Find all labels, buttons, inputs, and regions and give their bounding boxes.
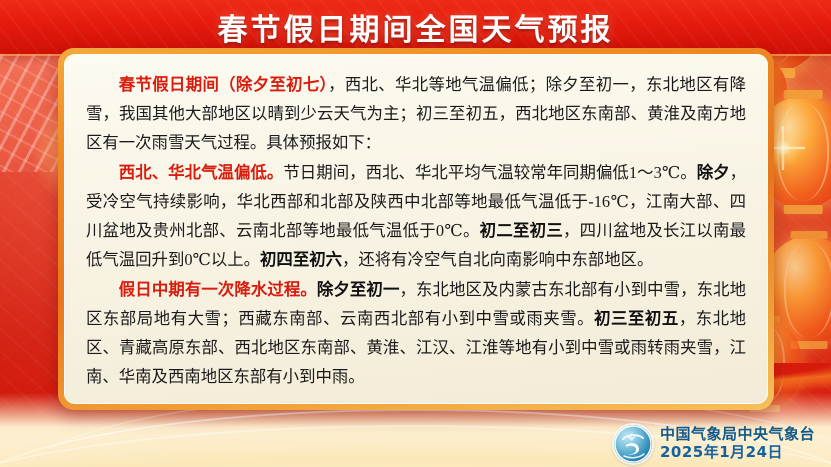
forecast-paragraph-precipitation: 假日中期有一次降水过程。除夕至初一，东北地区及内蒙古东北部有小到中雪，东北地区东…: [86, 275, 746, 391]
text-run-highlight: 春节假日期间（除夕至初七）: [119, 75, 328, 94]
text-run-bold: 初二至初三: [480, 221, 563, 240]
text-run-bold: 除夕至初一: [317, 280, 400, 299]
title-bar: 春节假日期间全国天气预报: [0, 0, 831, 54]
text-run-normal: 节日期间，西北、华北平均气温较常年同期偏低1～3℃。: [283, 163, 696, 182]
credit-text-block: 中国气象局中央气象台 2025年1月24日: [660, 426, 815, 461]
content-card-inner: 春节假日期间（除夕至初七），西北、华北等地气温偏低；除夕至初一，东北地区有降雪，…: [64, 54, 768, 404]
text-run-highlight: 西北、华北气温偏低。: [119, 163, 284, 182]
cma-logo-icon: [614, 425, 652, 463]
page-title: 春节假日期间全国天气预报: [218, 5, 614, 49]
text-run-highlight: 假日中期有一次降水过程。: [119, 280, 317, 299]
forecast-body-text: 春节假日期间（除夕至初七），西北、华北等地气温偏低；除夕至初一，东北地区有降雪，…: [86, 70, 746, 391]
text-run-normal: ，还将有冷空气自北向南影响中东部地区。: [342, 250, 653, 269]
text-run-bold: 除夕: [697, 163, 730, 182]
weather-forecast-poster: 春节假日期间全国天气预报 春节假日期间（除夕至初七），西北、华北等地气温偏低；除…: [0, 0, 831, 467]
credit-organization: 中国气象局中央气象台: [660, 426, 815, 444]
source-credit: 中国气象局中央气象台 2025年1月24日: [614, 425, 815, 463]
forecast-paragraph-temperature: 西北、华北气温偏低。节日期间，西北、华北平均气温较常年同期偏低1～3℃。除夕，受…: [86, 158, 746, 274]
forecast-paragraph-overview: 春节假日期间（除夕至初七），西北、华北等地气温偏低；除夕至初一，东北地区有降雪，…: [86, 70, 746, 157]
credit-date: 2025年1月24日: [660, 444, 815, 462]
text-run-bold: 初三至初五: [594, 309, 679, 328]
text-run-bold: 初四至初六: [260, 250, 342, 269]
content-card: 春节假日期间（除夕至初七），西北、华北等地气温偏低；除夕至初一，东北地区有降雪，…: [58, 48, 774, 410]
